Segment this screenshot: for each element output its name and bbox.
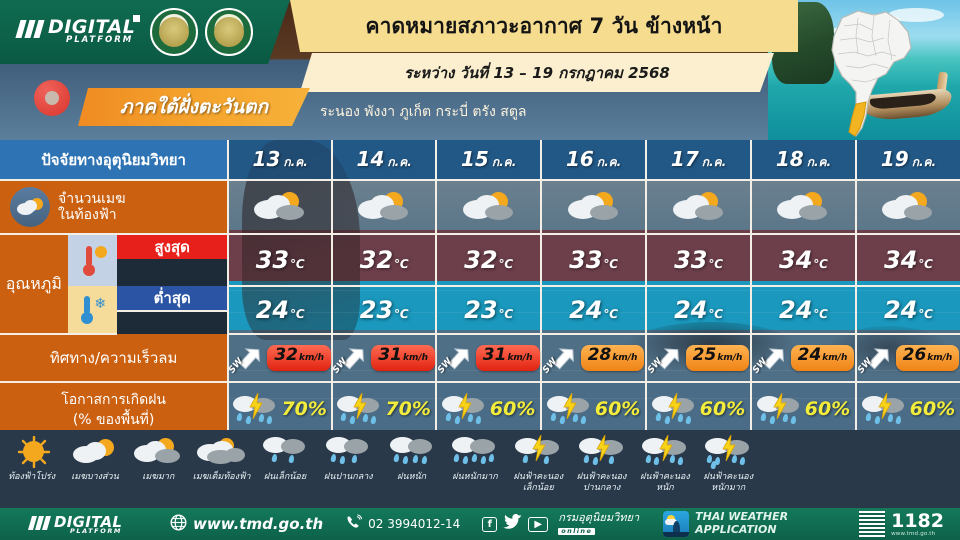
- legend-label-mostly-cloudy: เมฆมาก: [142, 472, 174, 483]
- day-number-1: 14: [357, 147, 385, 171]
- cloud-cell-4: [646, 180, 751, 234]
- day-month-6: ก.ค.: [912, 155, 936, 169]
- rain-cell-2: 60%: [436, 382, 541, 434]
- wind-speed-value-0: 32: [274, 345, 298, 365]
- legend-label-light-thunderstorm: ฝนฟ้าคะนอง เล็กน้อย: [513, 472, 563, 493]
- facebook-icon[interactable]: f: [482, 517, 497, 532]
- cloud-label-line1: จำนวนเมฆ: [58, 191, 125, 207]
- wind-cell-4: SW 25km/h: [646, 334, 751, 382]
- temp-min-value-6: 24: [884, 296, 917, 324]
- social-links: f ▶ กรมอุตุนิยมวิทยา online: [482, 512, 639, 535]
- rain-cell-0: 70%: [228, 382, 332, 434]
- temp-max-cell-6: 34℃: [856, 234, 960, 286]
- temp-max-cell-4: 33℃: [646, 234, 751, 286]
- department-online-tag: online: [558, 528, 595, 535]
- rain-value-4: 60%: [700, 398, 745, 420]
- thunderstorm-icon-5: [757, 392, 801, 426]
- legend-label-heavy-rain: ฝนหนัก: [397, 472, 426, 483]
- temp-max-value-3: 33: [569, 246, 602, 274]
- very-heavy-rain-icon: [452, 434, 498, 470]
- wind-arrow-icon-1: SW: [333, 342, 367, 374]
- wind-row: ทิศทาง/ความเร็วลม SW 32km/h: [0, 334, 960, 382]
- phone-icon: [345, 514, 362, 535]
- temp-max-value-0: 33: [256, 246, 289, 274]
- rain-label-line1: โอกาสการเกิดฝน: [61, 392, 166, 408]
- wind-speed-value-2: 31: [483, 345, 507, 365]
- wind-cell-3: SW 28km/h: [541, 334, 646, 382]
- factor-column-header: ปัจจัยทางอุตุนิยมวิทยา: [0, 140, 228, 180]
- temp-max-value-6: 34: [884, 246, 917, 274]
- cloud-cell-3: [541, 180, 646, 234]
- temp-min-value-4: 24: [674, 296, 707, 324]
- phone-contact[interactable]: 02 3994012-14: [345, 514, 460, 535]
- day-header-2: 15ก.ค.: [436, 140, 541, 180]
- wind-arrow-icon-3: SW: [543, 342, 577, 374]
- wind-arrow-icon-6: SW: [858, 342, 892, 374]
- globe-icon: [170, 514, 187, 535]
- thai-weather-app-icon: [663, 511, 689, 537]
- app-name: THAI WEATHER APPLICATION: [695, 511, 788, 536]
- temperature-label: อุณหภูมิ: [0, 234, 68, 334]
- location-pin-icon: [34, 80, 70, 128]
- wind-speed-value-6: 26: [903, 345, 927, 365]
- website-url: www.tmd.go.th: [193, 515, 323, 533]
- day-header-0: 13ก.ค.: [228, 140, 332, 180]
- light-rain-icon: [263, 434, 307, 470]
- wind-speed-value-3: 28: [588, 345, 612, 365]
- temp-min-row: ❄ ต่ำสุด 24℃ 23℃ 23℃ 24℃ 24℃: [0, 286, 960, 334]
- rain-cell-5: 60%: [751, 382, 856, 434]
- legend-item-sunny: ท้องฟ้าโปร่ง: [0, 430, 63, 483]
- temp-min-value-2: 23: [464, 296, 497, 324]
- wind-speed-value-4: 25: [693, 345, 717, 365]
- severe-thunderstorm-icon: [705, 434, 751, 470]
- wind-arrow-icon-4: SW: [648, 342, 682, 374]
- digital-platform-logo: DIGITAL PLATFORM: [18, 16, 138, 50]
- rain-label-line2: (% ของพื้นที่): [73, 412, 155, 428]
- temp-max-cell-0: 33℃: [228, 234, 332, 286]
- temp-max-value-1: 32: [360, 246, 393, 274]
- day-header-5: 18ก.ค.: [751, 140, 856, 180]
- ministry-seal-icon: [205, 8, 253, 56]
- legend-item-moderate-rain: ฝนปานกลาง: [317, 430, 380, 483]
- legend-item-heavy-thunderstorm: ฝนฟ้าคะนอง หนัก: [633, 430, 696, 493]
- thunderstorm-icon-1: [337, 392, 381, 426]
- heavy-rain-icon: [390, 434, 434, 470]
- legend-label-moderate-thunderstorm: ฝนฟ้าคะนอง ปานกลาง: [577, 472, 627, 493]
- wind-row-label: ทิศทาง/ความเร็วลม: [0, 334, 228, 382]
- temp-min-cell-5: 24℃: [751, 286, 856, 334]
- legend-label-very-heavy-rain: ฝนหนักมาก: [452, 472, 497, 483]
- rain-value-2: 60%: [490, 398, 535, 420]
- wind-speed-pill-5: 24km/h: [791, 345, 855, 371]
- footer-bar: DIGITAL PLATFORM www.tmd.go.th 02 399401…: [0, 508, 960, 540]
- wind-cell-0: SW 32km/h: [228, 334, 332, 382]
- header-banner: คาดหมายสภาวะอากาศ 7 วัน ข้างหน้า ระหว่าง…: [0, 0, 960, 140]
- legend-label-severe-thunderstorm: ฝนฟ้าคะนอง หนักมาก: [703, 472, 753, 493]
- forecast-table-area: ปัจจัยทางอุตุนิยมวิทยา 13ก.ค. 14ก.ค. 15ก…: [0, 140, 960, 430]
- wind-cell-6: SW 26km/h: [856, 334, 960, 382]
- temp-min-value-3: 24: [569, 296, 602, 324]
- rain-value-1: 70%: [385, 398, 430, 420]
- temp-max-value-2: 32: [464, 246, 497, 274]
- day-header-6: 19ก.ค.: [856, 140, 960, 180]
- legend-item-heavy-rain: ฝนหนัก: [380, 430, 443, 483]
- province-list: ระนอง พังงา ภูเก็ต กระบี่ ตรัง สตูล: [320, 95, 740, 129]
- wind-speed-unit: km/h: [299, 353, 324, 363]
- temp-min-value-5: 24: [779, 296, 812, 324]
- day-month-3: ก.ค.: [597, 155, 621, 169]
- day-month-4: ก.ค.: [702, 155, 726, 169]
- mostly-cloudy-icon: [134, 434, 182, 470]
- temp-max-cell-5: 34℃: [751, 234, 856, 286]
- temp-max-value-4: 33: [674, 246, 707, 274]
- legend-label-partly-cloudy: เมฆบางส่วน: [71, 472, 119, 483]
- region-tag: ภาคใต้ฝั่งตะวันตก: [78, 88, 310, 126]
- cloud-cell-1: [332, 180, 436, 234]
- temp-min-value-1: 23: [360, 296, 393, 324]
- cloud-cell-5: [751, 180, 856, 234]
- rain-value-3: 60%: [595, 398, 640, 420]
- date-range-text: ระหว่าง วันที่ 13 – 19 กรกฎาคม 2568: [404, 61, 670, 85]
- website-link[interactable]: www.tmd.go.th: [170, 514, 323, 535]
- legend-bar: ท้องฟ้าโปร่ง เมฆบางส่วน: [0, 430, 960, 508]
- temp-min-cell-2: 23℃: [436, 286, 541, 334]
- region-name: ภาคใต้ฝั่งตะวันตก: [120, 92, 268, 122]
- legend-item-moderate-thunderstorm: ฝนฟ้าคะนอง ปานกลาง: [570, 430, 633, 493]
- temp-unit: ℃: [290, 257, 305, 271]
- rain-value-6: 60%: [910, 398, 955, 420]
- temp-max-cell-2: 32℃: [436, 234, 541, 286]
- day-header-3: 16ก.ค.: [541, 140, 646, 180]
- cloud-cell-0: [228, 180, 332, 234]
- forecast-table: ปัจจัยทางอุตุนิยมวิทยา 13ก.ค. 14ก.ค. 15ก…: [0, 140, 960, 434]
- department-name: กรมอุตุนิยมวิทยา online: [558, 512, 639, 535]
- day-month-0: ก.ค.: [283, 155, 307, 169]
- tmd-seal-icon: [150, 8, 198, 56]
- sunny-icon: [14, 434, 50, 470]
- thai-weather-app[interactable]: THAI WEATHER APPLICATION: [663, 511, 788, 537]
- phone-number: 02 3994012-14: [368, 517, 460, 531]
- thunderstorm-icon-6: [862, 392, 906, 426]
- wind-speed-pill-3: 28km/h: [581, 345, 645, 371]
- heavy-thunderstorm-icon: [642, 434, 688, 470]
- temp-min-tag: ต่ำสุด: [117, 286, 227, 312]
- temp-max-row: อุณหภูมิ สูงสุด 33℃ 32℃: [0, 234, 960, 286]
- temp-min-cell-4: 24℃: [646, 286, 751, 334]
- legend-label-light-rain: ฝนเล็กน้อย: [264, 472, 306, 483]
- moderate-thunderstorm-icon: [579, 434, 625, 470]
- temp-min-cell-0: 24℃: [228, 286, 332, 334]
- wind-speed-value-5: 24: [798, 345, 822, 365]
- temp-min-cell-1: 23℃: [332, 286, 436, 334]
- rain-value-0: 70%: [281, 398, 326, 420]
- footer-brand-sub: PLATFORM: [70, 527, 122, 535]
- wind-arrow-icon-0: SW: [229, 342, 263, 374]
- day-header-4: 17ก.ค.: [646, 140, 751, 180]
- cloud-cell-2: [436, 180, 541, 234]
- day-header-1: 14ก.ค.: [332, 140, 436, 180]
- wind-speed-pill-0: 32km/h: [267, 345, 331, 371]
- wind-cell-2: SW 31km/h: [436, 334, 541, 382]
- temp-max-value-5: 34: [779, 246, 812, 274]
- wind-arrow-icon-2: SW: [438, 342, 472, 374]
- hotline-number: 1182: [891, 512, 944, 531]
- day-number-3: 16: [566, 147, 594, 171]
- rain-value-5: 60%: [805, 398, 850, 420]
- thermometer-hot-icon: [68, 234, 118, 286]
- moderate-rain-icon: [326, 434, 370, 470]
- temp-max-cell-3: 33℃: [541, 234, 646, 286]
- legend-item-partly-cloudy: เมฆบางส่วน: [63, 430, 126, 483]
- page-title: คาดหมายสภาวะอากาศ 7 วัน ข้างหน้า: [290, 0, 798, 52]
- wind-arrow-icon-5: SW: [753, 342, 787, 374]
- partly-cloudy-icon: [73, 434, 117, 470]
- temp-max-tag: สูงสุด: [117, 235, 227, 259]
- rain-cell-1: 70%: [332, 382, 436, 434]
- table-header-row: ปัจจัยทางอุตุนิยมวิทยา 13ก.ค. 14ก.ค. 15ก…: [0, 140, 960, 180]
- wind-speed-pill-2: 31km/h: [476, 345, 540, 371]
- legend-item-very-heavy-rain: ฝนหนักมาก: [443, 430, 506, 483]
- partly-cloudy-icon: [10, 187, 50, 227]
- rain-cell-6: 60%: [856, 382, 960, 434]
- wind-cell-1: SW 31km/h: [332, 334, 436, 382]
- temp-min-cell-6: 24℃: [856, 286, 960, 334]
- date-range-plate: ระหว่าง วันที่ 13 – 19 กรกฎาคม 2568: [300, 53, 774, 92]
- hotline-url: www.tmd.go.th: [891, 531, 935, 537]
- brand-sub: PLATFORM: [66, 35, 133, 45]
- day-month-1: ก.ค.: [387, 155, 411, 169]
- legend-item-mostly-cloudy: เมฆมาก: [127, 430, 190, 483]
- thunderstorm-icon-4: [652, 392, 696, 426]
- legend-label-moderate-rain: ฝนปานกลาง: [324, 472, 373, 483]
- legend-item-light-rain: ฝนเล็กน้อย: [253, 430, 316, 483]
- day-number-6: 19: [881, 147, 909, 171]
- legend-label-heavy-thunderstorm: ฝนฟ้าคะนอง หนัก: [640, 472, 690, 493]
- thailand-map-icon: [812, 6, 920, 140]
- hotline-block: 1182 www.tmd.go.th: [859, 511, 944, 537]
- legend-item-severe-thunderstorm: ฝนฟ้าคะนอง หนักมาก: [697, 430, 760, 493]
- day-number-5: 18: [776, 147, 804, 171]
- rain-cell-3: 60%: [541, 382, 646, 434]
- footer-brand-logo: DIGITAL PLATFORM: [0, 508, 150, 540]
- temp-min-value-0: 24: [256, 296, 289, 324]
- day-number-2: 15: [461, 147, 489, 171]
- thunderstorm-icon-2: [442, 392, 486, 426]
- cloud-row: จำนวนเมฆ ในท้องฟ้า: [0, 180, 960, 234]
- wind-speed-pill-6: 26km/h: [896, 345, 960, 371]
- day-number-4: 17: [671, 147, 699, 171]
- day-month-5: ก.ค.: [807, 155, 831, 169]
- wind-speed-value-1: 31: [378, 345, 402, 365]
- wind-speed-pill-4: 25km/h: [686, 345, 750, 371]
- thunderstorm-icon-0: [233, 392, 277, 426]
- youtube-icon[interactable]: ▶: [528, 517, 548, 532]
- weather-icon-legend: ท้องฟ้าโปร่ง เมฆบางส่วน: [0, 430, 760, 508]
- legend-item-light-thunderstorm: ฝนฟ้าคะนอง เล็กน้อย: [507, 430, 570, 493]
- legend-label-sunny: ท้องฟ้าโปร่ง: [8, 472, 55, 483]
- legend-label-overcast: เมฆเต็มท้องฟ้า: [193, 472, 251, 483]
- temp-max-cell-1: 32℃: [332, 234, 436, 286]
- light-thunderstorm-icon: [515, 434, 561, 470]
- rain-row-label: โอกาสการเกิดฝน (% ของพื้นที่): [0, 382, 228, 434]
- twitter-icon[interactable]: [503, 514, 522, 534]
- rain-cell-4: 60%: [646, 382, 751, 434]
- thermometer-cold-icon: ❄: [68, 286, 118, 334]
- cloud-label-line2: ในท้องฟ้า: [58, 207, 117, 223]
- wind-speed-pill-1: 31km/h: [371, 345, 435, 371]
- page-title-text: คาดหมายสภาวะอากาศ 7 วัน ข้างหน้า: [365, 10, 722, 43]
- wind-cell-5: SW 24km/h: [751, 334, 856, 382]
- cloud-row-label: จำนวนเมฆ ในท้องฟ้า: [0, 180, 228, 234]
- legend-item-overcast: เมฆเต็มท้องฟ้า: [190, 430, 253, 483]
- thunderstorm-icon-3: [547, 392, 591, 426]
- overcast-icon: [197, 434, 247, 470]
- qr-code-icon[interactable]: [859, 511, 885, 537]
- rain-row: โอกาสการเกิดฝน (% ของพื้นที่): [0, 382, 960, 434]
- day-month-2: ก.ค.: [492, 155, 516, 169]
- day-number-0: 13: [253, 147, 281, 171]
- temp-min-cell-3: 24℃: [541, 286, 646, 334]
- cloud-cell-6: [856, 180, 960, 234]
